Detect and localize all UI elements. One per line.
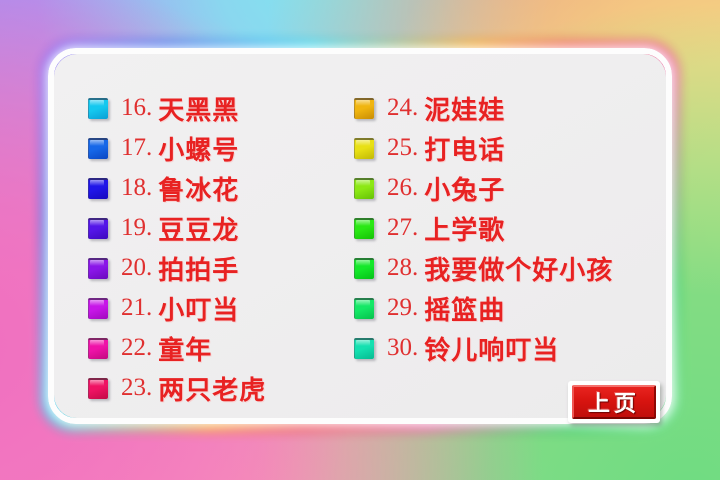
bullet-bright-green-icon (354, 258, 374, 279)
bullet-blue-icon (88, 138, 108, 159)
song-title: 打电话 (424, 130, 505, 167)
song-number: 28. (387, 254, 418, 282)
bullet-green-icon (354, 218, 374, 239)
song-number: 23. (121, 374, 152, 402)
song-number: 20. (121, 254, 152, 282)
song-number: 26. (387, 174, 418, 202)
song-list-item[interactable]: 21.小叮当 (88, 288, 358, 328)
prev-page-button-face: 上页 (572, 385, 656, 419)
song-title: 拍拍手 (158, 250, 239, 287)
bullet-violet-icon (88, 218, 108, 239)
song-title: 两只老虎 (158, 370, 266, 407)
song-list-left-column: 16.天黑黑17.小螺号18.鲁冰花19.豆豆龙20.拍拍手21.小叮当22.童… (88, 88, 358, 408)
song-number: 30. (387, 334, 418, 362)
song-number: 22. (121, 334, 152, 362)
bullet-yellow-green-icon (354, 178, 374, 199)
bullet-teal-icon (354, 338, 374, 359)
bullet-crimson-icon (88, 378, 108, 399)
bullet-magenta-icon (88, 338, 108, 359)
song-title: 小兔子 (424, 170, 505, 207)
bullet-spring-green-icon (354, 298, 374, 319)
song-number: 27. (387, 214, 418, 242)
bullet-cyan-icon (88, 98, 108, 119)
song-number: 21. (121, 294, 152, 322)
song-title: 鲁冰花 (158, 170, 239, 207)
song-list-item[interactable]: 24.泥娃娃 (354, 88, 666, 128)
song-title: 童年 (158, 330, 212, 367)
song-list-item[interactable]: 27.上学歌 (354, 208, 666, 248)
bullet-purple-icon (88, 258, 108, 279)
song-number: 24. (387, 94, 418, 122)
song-list-item[interactable]: 28.我要做个好小孩 (354, 248, 666, 288)
song-number: 19. (121, 214, 152, 242)
bullet-orchid-icon (88, 298, 108, 319)
song-title: 泥娃娃 (424, 90, 505, 127)
song-list-item[interactable]: 19.豆豆龙 (88, 208, 358, 248)
bullet-yellow-icon (354, 138, 374, 159)
song-list-item[interactable]: 26.小兔子 (354, 168, 666, 208)
song-title: 小螺号 (158, 130, 239, 167)
song-list-item[interactable]: 23.两只老虎 (88, 368, 358, 408)
song-number: 17. (121, 134, 152, 162)
song-list-item[interactable]: 22.童年 (88, 328, 358, 368)
song-list-item[interactable]: 17.小螺号 (88, 128, 358, 168)
song-number: 18. (121, 174, 152, 202)
song-title: 摇篮曲 (424, 290, 505, 327)
bullet-deep-blue-icon (88, 178, 108, 199)
song-title: 铃儿响叮当 (424, 330, 559, 367)
song-title: 小叮当 (158, 290, 239, 327)
song-list-right-column: 24.泥娃娃25.打电话26.小兔子27.上学歌28.我要做个好小孩29.摇篮曲… (354, 88, 666, 368)
bullet-gold-icon (354, 98, 374, 119)
song-list-item[interactable]: 25.打电话 (354, 128, 666, 168)
song-title: 豆豆龙 (158, 210, 239, 247)
song-list-item[interactable]: 18.鲁冰花 (88, 168, 358, 208)
prev-page-button-label: 上页 (588, 386, 640, 418)
song-list-panel: 16.天黑黑17.小螺号18.鲁冰花19.豆豆龙20.拍拍手21.小叮当22.童… (54, 54, 666, 418)
song-title: 我要做个好小孩 (424, 250, 613, 287)
song-list-item[interactable]: 20.拍拍手 (88, 248, 358, 288)
app-screen: 16.天黑黑17.小螺号18.鲁冰花19.豆豆龙20.拍拍手21.小叮当22.童… (0, 0, 720, 480)
song-number: 16. (121, 94, 152, 122)
song-title: 天黑黑 (158, 90, 239, 127)
song-list-item[interactable]: 30.铃儿响叮当 (354, 328, 666, 368)
song-number: 29. (387, 294, 418, 322)
song-title: 上学歌 (424, 210, 505, 247)
prev-page-button[interactable]: 上页 (568, 381, 660, 423)
song-number: 25. (387, 134, 418, 162)
song-list-item[interactable]: 29.摇篮曲 (354, 288, 666, 328)
song-list-item[interactable]: 16.天黑黑 (88, 88, 358, 128)
